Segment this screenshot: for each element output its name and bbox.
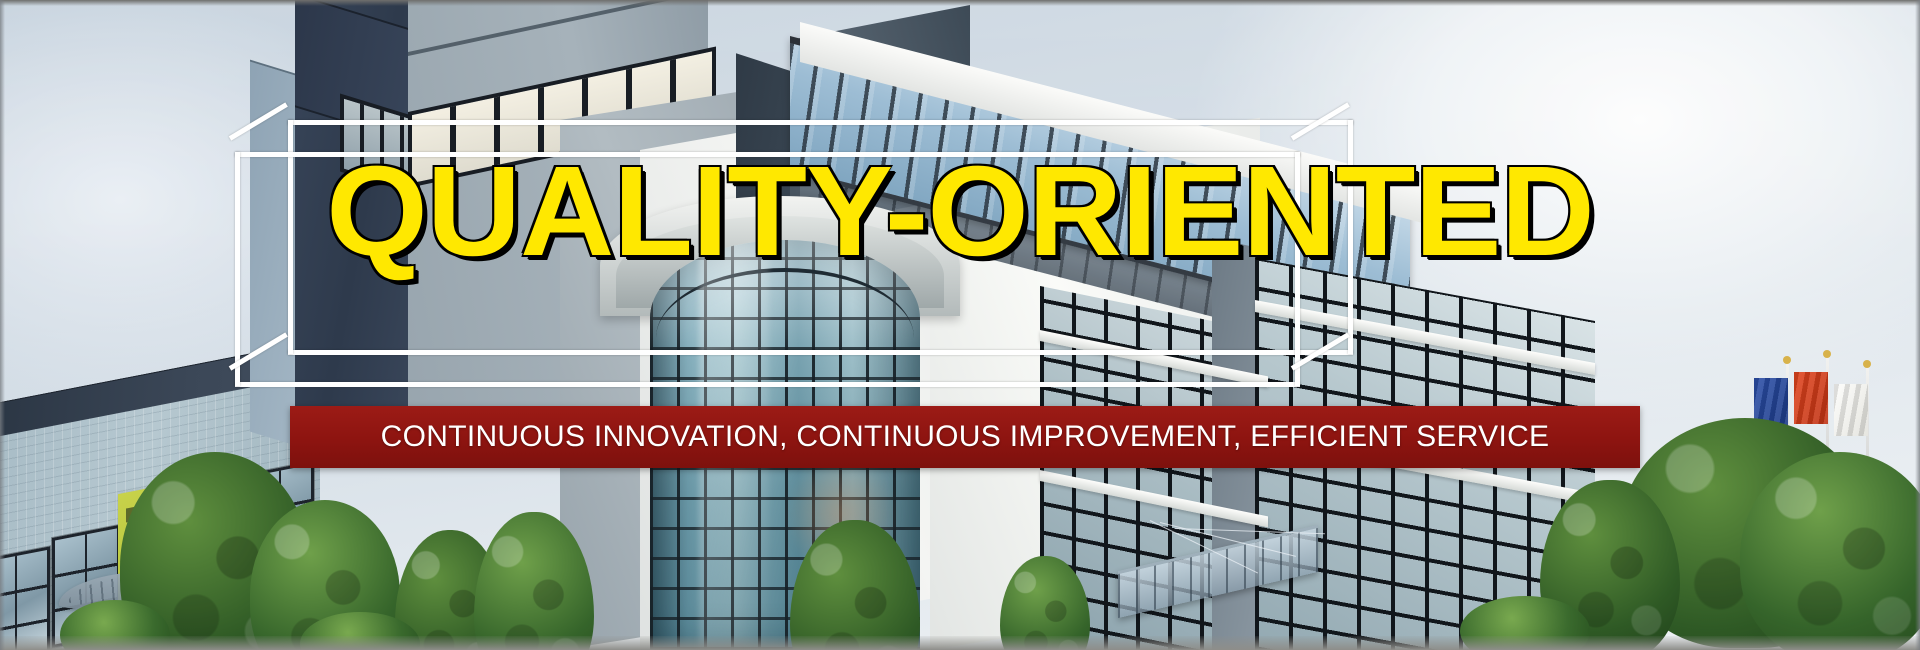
flagpole-finial (1863, 360, 1871, 368)
left-building-window (0, 546, 50, 650)
frame-edge-bottom (0, 636, 1920, 650)
flagpole-finial (1783, 356, 1791, 364)
frame-edge-top (0, 0, 1920, 6)
frame-edge-right (1915, 0, 1920, 650)
hero-banner: QUALITY-ORIENTED CONTINUOUS INNOVATION, … (0, 0, 1920, 650)
banner-headline: QUALITY-ORIENTED (0, 148, 1920, 276)
flagpole-finial (1823, 350, 1831, 358)
flag-red (1794, 372, 1828, 424)
frame-edge-left (0, 0, 5, 650)
flag-white (1834, 384, 1868, 436)
banner-subtitle-text: CONTINUOUS INNOVATION, CONTINUOUS IMPROV… (381, 420, 1550, 454)
banner-subtitle-bar: CONTINUOUS INNOVATION, CONTINUOUS IMPROV… (290, 406, 1640, 468)
